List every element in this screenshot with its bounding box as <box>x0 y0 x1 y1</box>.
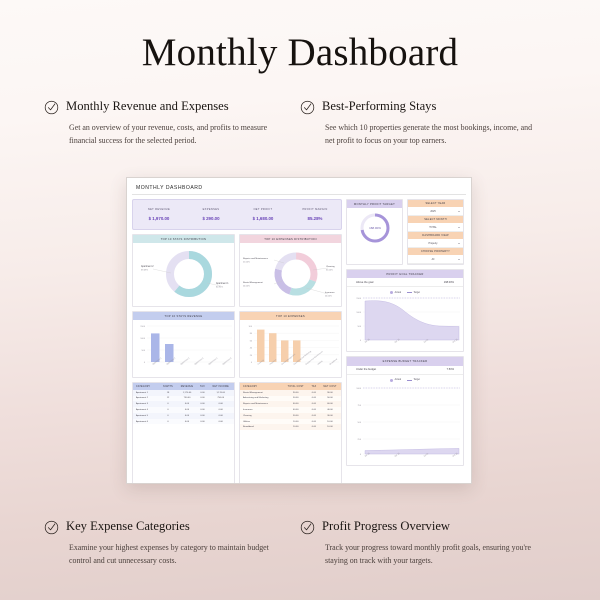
kpi-profit-margin: PROFIT MARGIN 85.28% <box>289 208 341 221</box>
legend-actual: Actual <box>390 291 401 294</box>
panel-header: TOP 10 STAYS DISTRIBUTION <box>133 235 234 243</box>
filter-label-year: SELECT YEAR <box>408 200 463 208</box>
svg-text:31.00%: 31.00% <box>326 269 333 271</box>
svg-text:Apartment 2: Apartment 2 <box>141 265 154 268</box>
cell: 0 <box>159 419 176 425</box>
svg-text:168.00%: 168.00% <box>369 226 381 230</box>
panel-top-expenses[interactable]: TOP 10 EXPENSES <box>239 311 342 378</box>
filter-select-year[interactable]: 2025 <box>408 208 463 216</box>
feature-header: Profit Progress Overview <box>300 519 538 535</box>
panel-stays-revenue[interactable]: TOP 10 STAYS REVENUE 1500 1000 <box>132 311 235 378</box>
svg-text:20: 20 <box>250 355 253 357</box>
stays-distribution-donut: Apartment 2 39.09% Apartment 1 60.91% <box>133 243 234 306</box>
svg-text:1000: 1000 <box>140 338 145 340</box>
filter-select-property[interactable]: All <box>408 256 463 264</box>
monthly-profit-target-gauge: 168.00% <box>347 208 402 248</box>
feature-description: Examine your highest expenses by categor… <box>44 542 282 568</box>
feature-header: Key Expense Categories <box>44 519 282 535</box>
legend-label: Target <box>414 379 420 381</box>
table-row[interactable]: Broadband 10.00 0.00 10.00 <box>240 424 341 430</box>
svg-text:24.00%: 24.00% <box>325 295 332 297</box>
svg-text:250: 250 <box>358 439 362 441</box>
feature-header: Monthly Revenue and Expenses <box>44 99 282 115</box>
cell: Broadband <box>240 424 283 430</box>
kpi-value: $ 1,680.00 <box>237 216 289 221</box>
svg-text:39.09%: 39.09% <box>141 270 148 272</box>
check-circle-icon <box>300 100 315 115</box>
svg-text:1000: 1000 <box>356 388 361 390</box>
panel-header: PROFIT GOAL TRACKER <box>347 270 463 278</box>
svg-text:21.00%: 21.00% <box>243 261 250 263</box>
dashboard-body: NET REVENUE $ 1,970.00 EXPENSES $ 290.00… <box>132 195 466 484</box>
svg-text:Broadband: Broadband <box>329 358 338 366</box>
stays-revenue-bar-chart: 1500 1000 500 0 Apartment 1 Apartment 2 … <box>133 320 234 377</box>
panel-expenses-table[interactable]: CATEGORY TOTAL COST TAX NET COST Rental … <box>239 382 342 484</box>
feature-description: Get an overview of your revenue, costs, … <box>44 122 282 148</box>
kpi-label: EXPENSES <box>185 208 237 211</box>
svg-text:Apartment 1: Apartment 1 <box>216 282 229 285</box>
profit-goal-legend: Actual Target <box>347 287 463 294</box>
svg-text:Rental Management: Rental Management <box>243 281 263 284</box>
feature-description: See which 10 properties generate the mos… <box>300 122 538 148</box>
status-value: 7.50% <box>447 368 454 371</box>
kpi-expenses: EXPENSES $ 290.00 <box>185 208 237 221</box>
cell: 0.00 <box>207 419 234 425</box>
panel-stays-table[interactable]: CATEGORY NIGHTS REVENUE TAX NET INCOME A… <box>132 382 235 484</box>
kpi-label: NET PROFIT <box>237 208 289 211</box>
dashboard-left-column: NET REVENUE $ 1,970.00 EXPENSES $ 290.00… <box>132 199 342 484</box>
svg-text:500: 500 <box>142 350 146 352</box>
gauge-and-filters-row: MONTHLY PROFIT TARGET 168.00% SELECT YEA… <box>346 199 464 265</box>
panel-header: TOP 10 STAYS REVENUE <box>133 312 234 320</box>
kpi-value: 85.28% <box>289 216 341 221</box>
legend-label: Actual <box>395 379 401 381</box>
bar-charts-row: TOP 10 STAYS REVENUE 1500 1000 <box>132 311 342 378</box>
kpi-value: $ 290.00 <box>185 216 237 221</box>
filter-label-property: CHOOSE PROPERTY <box>408 248 463 256</box>
cell: Apartment 6 <box>133 419 159 425</box>
feature-profit-progress-overview: Profit Progress Overview Track your prog… <box>300 519 556 568</box>
check-circle-icon <box>44 520 59 535</box>
legend-dash-icon <box>407 292 412 293</box>
status-value: 168.00% <box>444 281 454 284</box>
donut-charts-row: TOP 10 STAYS DISTRIBUTION Apartment 2 39… <box>132 234 342 307</box>
profit-goal-area-chart: 1500 1000 500 0 Jan 25 Apr 25 Jul 25 Oct… <box>347 294 463 351</box>
feature-title: Profit Progress Overview <box>322 519 450 534</box>
svg-text:100: 100 <box>249 326 253 328</box>
check-circle-icon <box>44 100 59 115</box>
svg-text:60: 60 <box>250 341 253 343</box>
feature-title: Key Expense Categories <box>66 519 190 534</box>
feature-header: Best-Performing Stays <box>300 99 538 115</box>
panel-stays-distribution[interactable]: TOP 10 STAYS DISTRIBUTION Apartment 2 39… <box>132 234 235 307</box>
svg-text:0: 0 <box>251 362 253 364</box>
kpi-value: $ 1,970.00 <box>133 216 185 221</box>
expenses-table[interactable]: CATEGORY TOTAL COST TAX NET COST Rental … <box>240 383 341 430</box>
feature-key-expense-categories: Key Expense Categories Examine your high… <box>44 519 300 568</box>
cell: 0.00 <box>309 424 319 430</box>
panel-header: TOP 10 EXPENSES <box>240 312 341 320</box>
svg-text:1000: 1000 <box>356 312 361 314</box>
dashboard-mockup[interactable]: MONTHLY DASHBOARD NET REVENUE $ 1,970.00… <box>126 177 472 484</box>
svg-text:500: 500 <box>358 326 362 328</box>
svg-text:80: 80 <box>250 334 253 336</box>
feature-monthly-revenue-and-expenses: Monthly Revenue and Expenses Get an over… <box>44 99 300 148</box>
feature-title: Monthly Revenue and Expenses <box>66 99 229 114</box>
svg-text:1500: 1500 <box>356 298 361 300</box>
svg-text:Apartment 5: Apartment 5 <box>208 357 219 367</box>
kpi-net-revenue: NET REVENUE $ 1,970.00 <box>133 208 185 221</box>
expense-budget-legend: Actual Target <box>347 375 463 382</box>
legend-label: Target <box>414 292 420 294</box>
svg-text:0: 0 <box>360 340 362 342</box>
page-title: Monthly Dashboard <box>0 0 600 74</box>
legend-dash-icon <box>407 380 412 381</box>
panel-expense-budget-tracker[interactable]: EXPENSE BUDGET TRACKER Under the budget … <box>346 356 464 465</box>
svg-text:Cleaning: Cleaning <box>326 266 335 268</box>
svg-text:750: 750 <box>358 405 362 407</box>
table-row[interactable]: Apartment 6 0 0.00 0.00 0.00 <box>133 419 234 425</box>
filters-panel[interactable]: SELECT YEAR 2025 SELECT MONTH TOTAL DASH… <box>407 199 464 265</box>
top-expenses-bar-chart: 100 80 60 40 20 0 <box>240 320 341 377</box>
kpi-net-profit: NET PROFIT $ 1,680.00 <box>237 208 289 221</box>
cell: 0.00 <box>197 419 207 425</box>
svg-text:40: 40 <box>250 348 253 350</box>
expense-budget-area-chart: 1000 750 500 250 0 Jan 25 Apr 25 Jul 25 … <box>347 382 463 465</box>
status-label: Under the budget <box>356 368 376 371</box>
legend-target: Target <box>407 379 420 382</box>
panel-monthly-profit-target[interactable]: MONTHLY PROFIT TARGET 168.00% <box>346 199 403 265</box>
svg-text:60.91%: 60.91% <box>216 287 223 289</box>
svg-text:0: 0 <box>144 362 146 364</box>
panel-expenses-distribution[interactable]: TOP 10 EXPENSES DISTRIBUTION <box>239 234 342 307</box>
dashboard-title: MONTHLY DASHBOARD <box>132 183 466 195</box>
filter-label-month: SELECT MONTH <box>408 216 463 224</box>
svg-text:500: 500 <box>358 422 362 424</box>
stays-table[interactable]: CATEGORY NIGHTS REVENUE TAX NET INCOME A… <box>133 383 234 424</box>
panel-header: TOP 10 EXPENSES DISTRIBUTION <box>240 235 341 243</box>
svg-text:1500: 1500 <box>140 326 145 328</box>
kpi-strip: NET REVENUE $ 1,970.00 EXPENSES $ 290.00… <box>132 199 342 230</box>
legend-swatch-icon <box>390 379 393 382</box>
panel-profit-goal-tracker[interactable]: PROFIT GOAL TRACKER Above the goal 168.0… <box>346 269 464 352</box>
feature-description: Track your progress toward monthly profi… <box>300 542 538 568</box>
svg-text:Apartment 6: Apartment 6 <box>222 357 233 367</box>
svg-text:0: 0 <box>360 454 362 456</box>
legend-actual: Actual <box>390 379 401 382</box>
expenses-distribution-donut: Repairs and Maintenance 21.00% Rental Ma… <box>240 243 341 306</box>
legend-target: Target <box>407 291 420 294</box>
status-label: Above the goal <box>356 281 373 284</box>
feature-best-performing-stays: Best-Performing Stays See which 10 prope… <box>300 99 556 148</box>
dashboard-right-column: MONTHLY PROFIT TARGET 168.00% SELECT YEA… <box>346 199 464 484</box>
svg-text:24.00%: 24.00% <box>243 285 250 287</box>
svg-text:Insurance: Insurance <box>325 291 335 294</box>
check-circle-icon <box>300 520 315 535</box>
legend-label: Actual <box>395 292 401 294</box>
cell: 10.00 <box>283 424 309 430</box>
panel-header: MONTHLY PROFIT TARGET <box>347 200 402 208</box>
filter-label-view: DASHBOARD VIEW <box>408 232 463 240</box>
feature-title: Best-Performing Stays <box>322 99 436 114</box>
profit-goal-status: Above the goal 168.00% <box>347 278 463 287</box>
svg-text:Apartment 4: Apartment 4 <box>194 357 205 367</box>
features-bottom-row: Key Expense Categories Examine your high… <box>0 519 600 568</box>
panel-header: EXPENSE BUDGET TRACKER <box>347 357 463 365</box>
filter-select-month[interactable]: TOTAL <box>408 224 463 232</box>
cell: 10.00 <box>319 424 341 430</box>
expense-budget-status: Under the budget 7.50% <box>347 366 463 375</box>
cell: 0.00 <box>177 419 198 425</box>
filter-select-view[interactable]: Property <box>408 240 463 248</box>
tables-row: CATEGORY NIGHTS REVENUE TAX NET INCOME A… <box>132 382 342 484</box>
svg-text:Apartment 3: Apartment 3 <box>180 357 191 367</box>
svg-text:Repairs and Maintenance: Repairs and Maintenance <box>243 257 269 260</box>
legend-swatch-icon <box>390 291 393 294</box>
svg-text:Utilities: Utilities <box>317 360 324 366</box>
features-top-row: Monthly Revenue and Expenses Get an over… <box>0 99 600 148</box>
kpi-label: PROFIT MARGIN <box>289 208 341 211</box>
kpi-label: NET REVENUE <box>133 208 185 211</box>
